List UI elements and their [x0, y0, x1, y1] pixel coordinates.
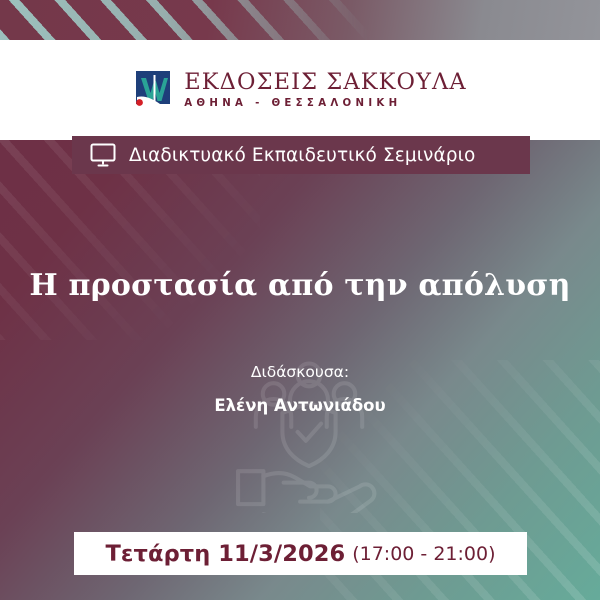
instructor-role-label: Διδάσκουσα: [0, 363, 600, 381]
seminar-type-label: Διαδικτυακό Εκπαιδευτικό Σεμινάριο [129, 145, 475, 166]
publisher-logo-text: ΕΚΔΟΣΕΙΣ ΣΑΚΚΟΥΛΑ ΑΘΗΝΑ - ΘΕΣΣΑΛΟΝΙΚΗ [184, 71, 466, 110]
publisher-header: ΕΚΔΟΣΕΙΣ ΣΑΚΚΟΥΛΑ ΑΘΗΝΑ - ΘΕΣΣΑΛΟΝΙΚΗ [0, 40, 600, 140]
seminar-type-banner: Διαδικτυακό Εκπαιδευτικό Σεμινάριο [72, 136, 530, 174]
page-title: Η προστασία από την απόλυση [0, 268, 600, 303]
instructor-block: Διδάσκουσα: Ελένη Αντωνιάδου [0, 363, 600, 415]
publisher-cities: ΑΘΗΝΑ - ΘΕΣΣΑΛΟΝΙΚΗ [184, 99, 466, 109]
publisher-logo[interactable]: ΕΚΔΟΣΕΙΣ ΣΑΚΚΟΥΛΑ ΑΘΗΝΑ - ΘΕΣΣΑΛΟΝΙΚΗ [0, 40, 600, 140]
schedule-bar: Τετάρτη 11/3/2026 (17:00 - 21:00) [74, 532, 527, 575]
desktop-monitor-icon [90, 143, 116, 167]
seminar-promo-card: ΕΚΔΟΣΕΙΣ ΣΑΚΚΟΥΛΑ ΑΘΗΝΑ - ΘΕΣΣΑΛΟΝΙΚΗ [0, 0, 600, 600]
schedule-time: (17:00 - 21:00) [352, 543, 495, 565]
top-decorative-band [0, 0, 600, 40]
publisher-name: ΕΚΔΟΣΕΙΣ ΣΑΚΚΟΥΛΑ [184, 71, 466, 94]
instructor-name: Ελένη Αντωνιάδου [0, 396, 600, 415]
diagonal-stripes-decoration [0, 0, 370, 40]
schedule-date: Τετάρτη 11/3/2026 [105, 541, 345, 567]
sakkoulas-monogram-icon [133, 71, 173, 110]
